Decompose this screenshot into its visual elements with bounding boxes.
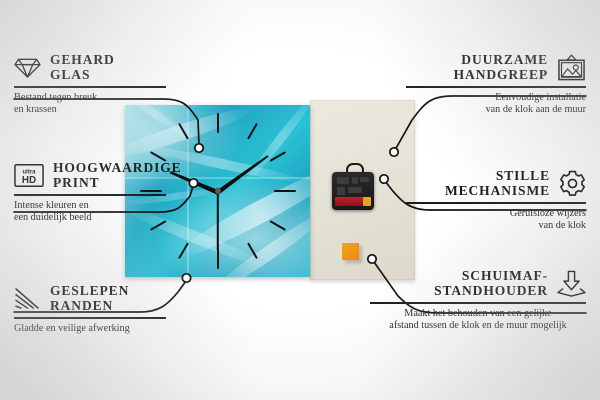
- feature-description: Maakt het behouden van een gelijke afsta…: [370, 308, 586, 333]
- feature-title: STILLE MECHANISME: [445, 168, 550, 198]
- divider: [406, 202, 586, 204]
- divider: [406, 86, 586, 88]
- beveled-edge-icon: [14, 287, 41, 310]
- feature-description: Geruisloze wijzers van de klok: [406, 208, 586, 233]
- feature-duurzame-handgreep: DUURZAME HANDGREEP Eenvoudige installati…: [406, 52, 586, 116]
- battery-terminal: [363, 197, 371, 206]
- clock-tick: [217, 113, 219, 133]
- press-down-icon: [557, 270, 586, 297]
- ultra-hd-icon: ultra HD: [14, 163, 44, 188]
- clock-tick: [274, 190, 296, 192]
- feature-stille-mechanisme: STILLE MECHANISME Geruisloze wijzers van…: [406, 168, 586, 232]
- second-hand: [217, 191, 219, 251]
- divider: [370, 302, 586, 304]
- diamond-icon: [14, 56, 41, 79]
- feature-description: Eenvoudige installatie van de klok aan d…: [406, 92, 586, 117]
- feature-title: GEHARD GLAS: [50, 52, 115, 82]
- feature-title: GESLEPEN RANDEN: [50, 283, 129, 313]
- clock-tick: [247, 123, 258, 140]
- product-photo: [125, 100, 415, 282]
- feature-hoogwaardige-print: ultra HD HOOGWAARDIGE PRINT Intense kleu…: [14, 160, 166, 224]
- clock-tick: [269, 220, 286, 231]
- hanging-picture-icon: [557, 54, 586, 81]
- feature-title: SCHUIMAF- STANDHOUDER: [434, 268, 548, 298]
- feature-gehard-glas: GEHARD GLAS Bestand tegen breuk en krass…: [14, 52, 166, 116]
- feature-description: Bestand tegen breuk en krassen: [14, 92, 166, 117]
- clock-back-panel: [310, 100, 415, 280]
- clock-tick: [217, 249, 219, 269]
- feature-schuimafstandhouder: SCHUIMAF- STANDHOUDER Maakt het behouden…: [370, 268, 586, 332]
- clock-center-hub: [215, 188, 221, 194]
- gear-icon: [559, 170, 586, 197]
- feature-description: Intense kleuren en een duidelijk beeld: [14, 200, 166, 225]
- divider: [14, 194, 166, 196]
- foam-spacer: [342, 243, 359, 260]
- feature-title: HOOGWAARDIGE PRINT: [53, 160, 182, 190]
- divider: [14, 317, 166, 319]
- clock-movement-box: [332, 172, 374, 210]
- infographic-canvas: GEHARD GLAS Bestand tegen breuk en krass…: [0, 0, 600, 400]
- feature-geslepen-randen: GESLEPEN RANDEN Gladde en veilige afwerk…: [14, 283, 166, 335]
- divider: [14, 86, 166, 88]
- feature-description: Gladde en veilige afwerking: [14, 323, 166, 335]
- hd-label: HD: [22, 175, 36, 186]
- feature-title: DUURZAME HANDGREEP: [454, 52, 548, 82]
